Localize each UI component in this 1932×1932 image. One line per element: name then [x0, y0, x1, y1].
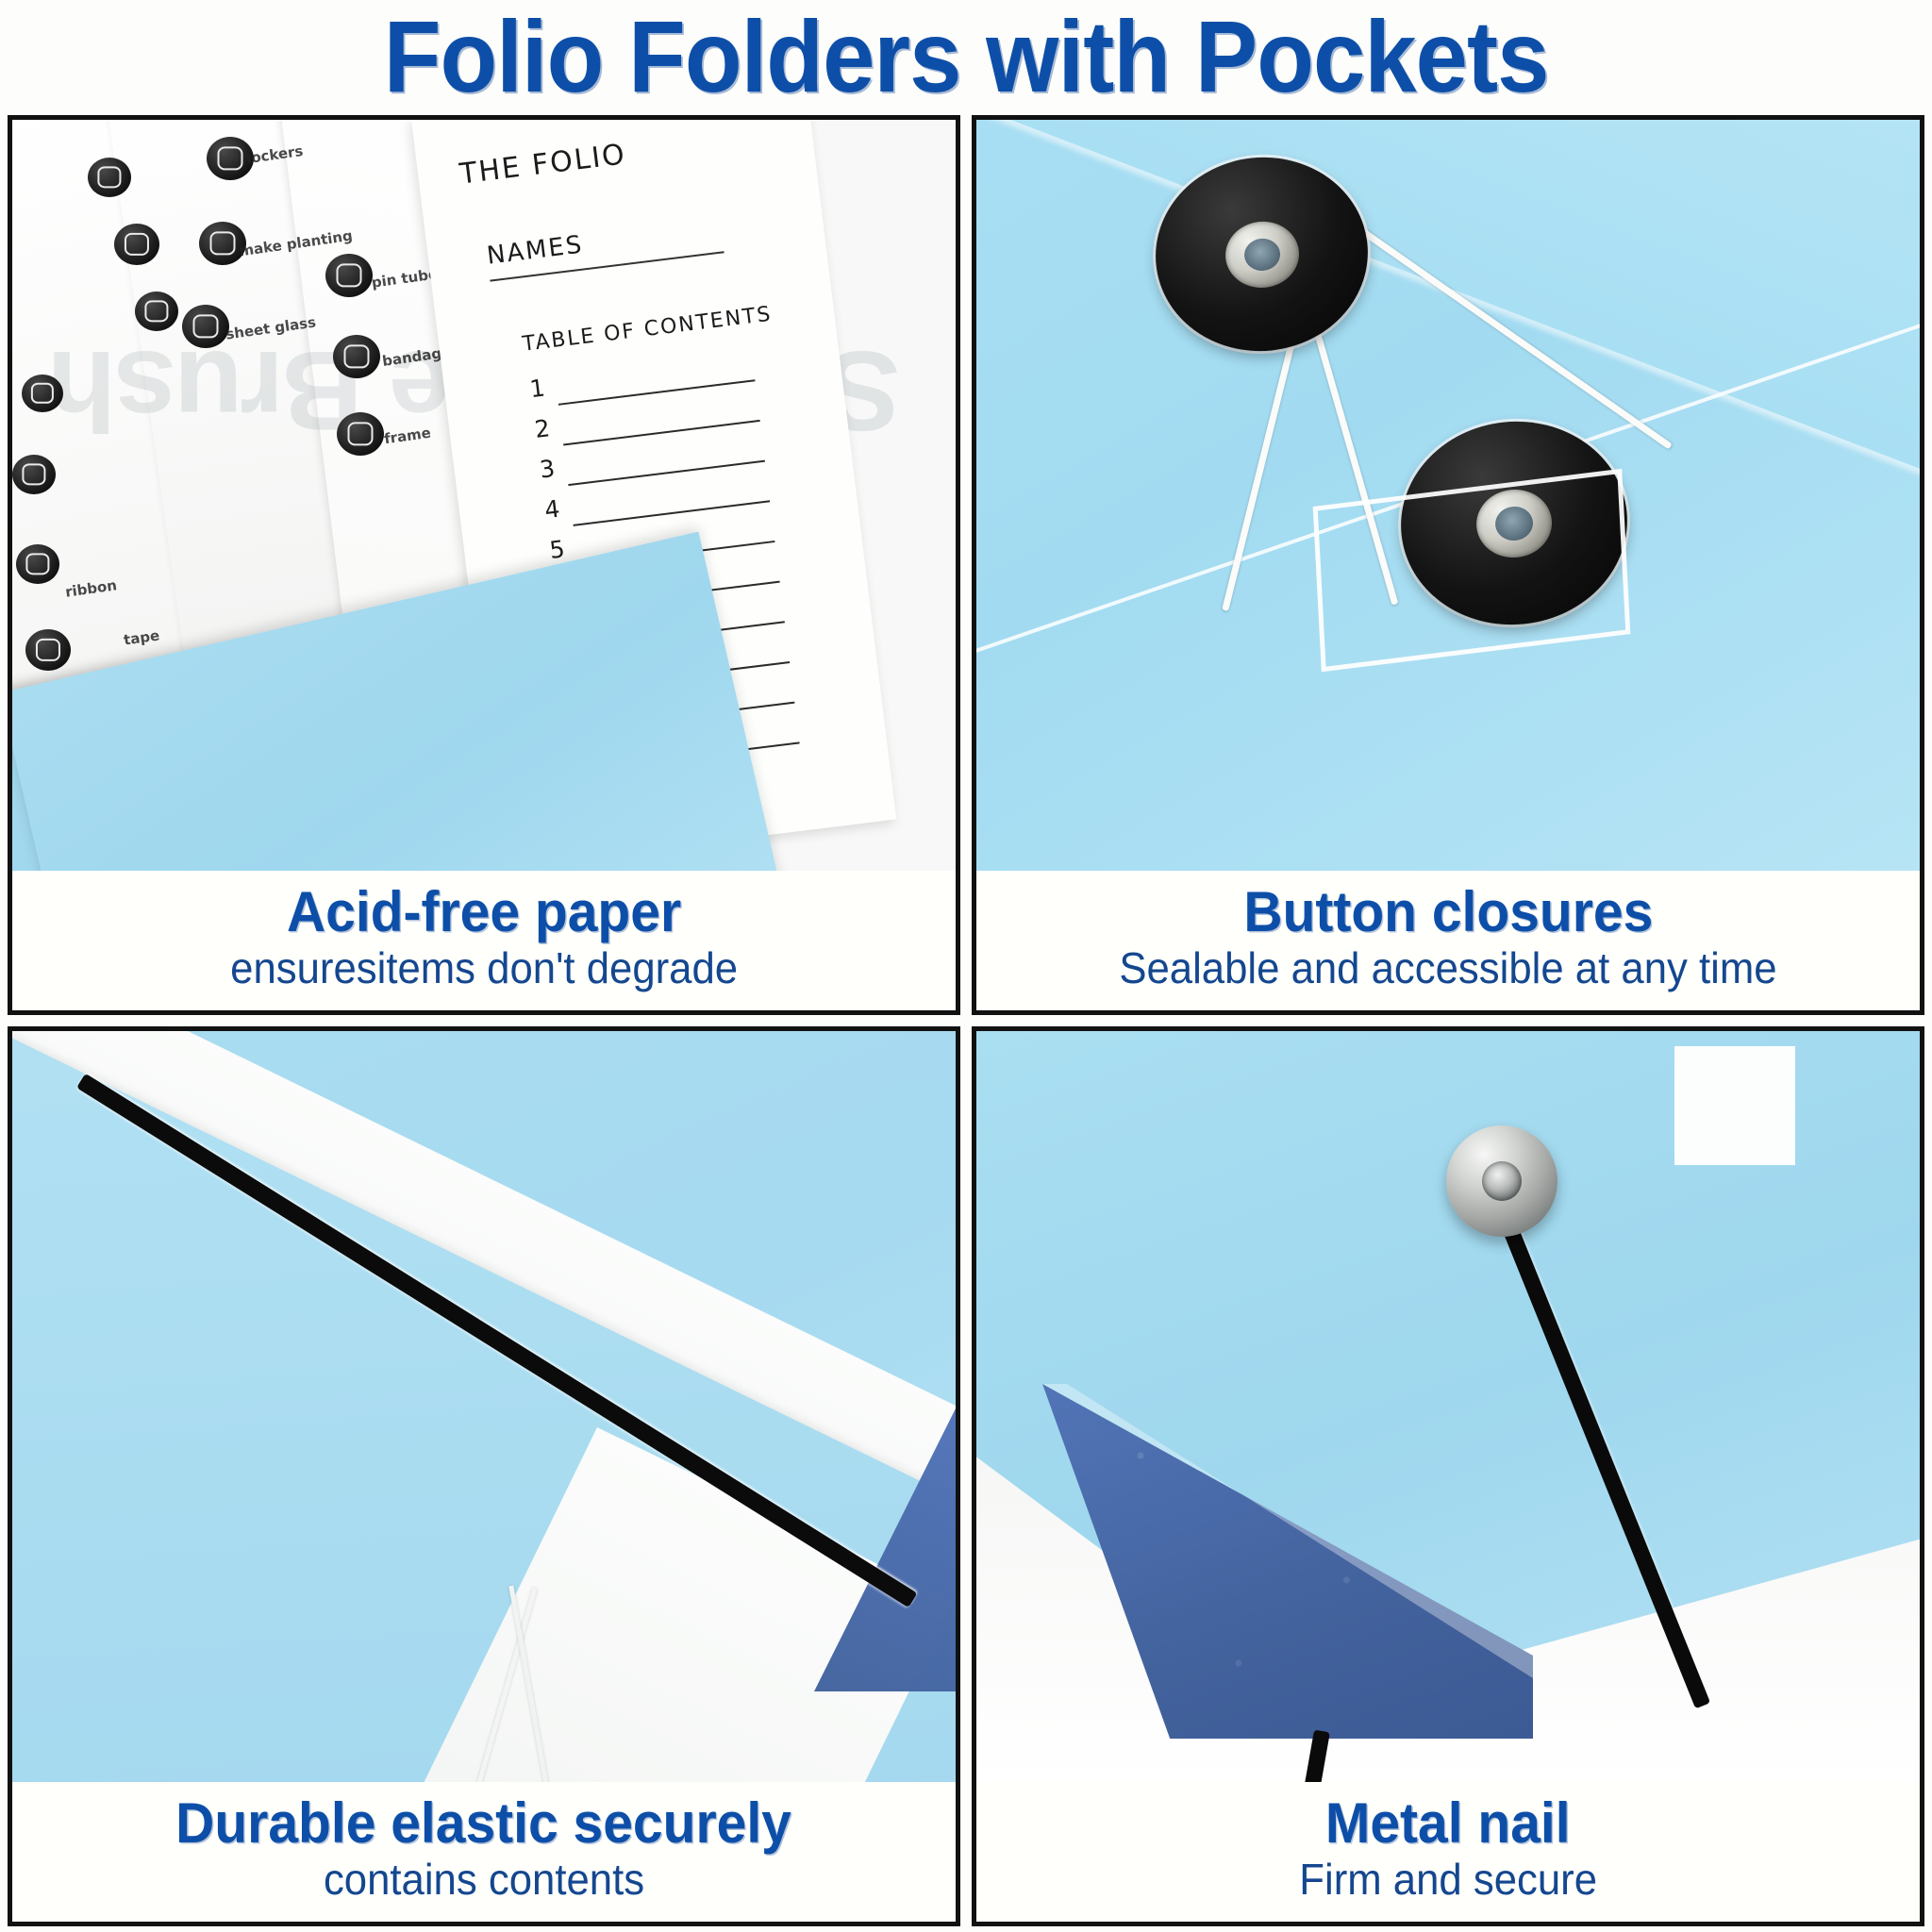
- sticker-circle-icon: [182, 305, 229, 348]
- folio-title-text: THE FOLIO: [458, 138, 627, 191]
- sticker-circle-icon: [25, 629, 71, 671]
- page-title: Folio Folders with Pockets: [384, 6, 1549, 108]
- metal-grommet-icon: [1222, 218, 1302, 291]
- photo-metal-nail: [976, 1031, 1920, 1782]
- panel-acid-free-paper: Stay Alive Brush masking tape ribbon tap…: [8, 115, 960, 1015]
- panel-metal-nail: Metal nail Firm and secure: [972, 1026, 1924, 1926]
- page-title-bar: Folio Folders with Pockets: [0, 0, 1932, 113]
- photo-durable-elastic: [12, 1031, 956, 1782]
- sticker-circle-icon: [333, 335, 380, 378]
- sticker-circle-icon: [337, 412, 384, 456]
- sticker-circle-icon: [114, 224, 159, 265]
- label-window-outline: [1313, 469, 1631, 672]
- caption-heading: Metal nail: [1325, 1794, 1571, 1852]
- sticker-circle-icon: [135, 291, 178, 331]
- metal-snap-button-icon: [1446, 1125, 1557, 1237]
- caption-heading: Button closures: [1243, 883, 1653, 941]
- caption-heading: Acid-free paper: [287, 883, 681, 941]
- elastic-cord: [1222, 308, 1304, 611]
- folio-names-label: NAMES: [485, 230, 585, 270]
- infographic-page: Folio Folders with Pockets Stay Alive Br…: [0, 0, 1932, 1932]
- caption-subtext: ensuresitems don't degrade: [230, 944, 738, 992]
- sticker-circle-icon: [325, 254, 373, 297]
- caption-subtext: Sealable and accessible at any time: [1119, 944, 1776, 992]
- caption-acid-free-paper: Acid-free paper ensuresitems don't degra…: [12, 871, 956, 1010]
- snap-center-icon: [1482, 1161, 1522, 1201]
- panel-button-closures: Button closures Sealable and accessible …: [972, 115, 1924, 1015]
- caption-button-closures: Button closures Sealable and accessible …: [976, 871, 1920, 1010]
- sticker-circle-icon: [88, 158, 131, 197]
- photo-acid-free-paper: Stay Alive Brush masking tape ribbon tap…: [12, 120, 956, 871]
- panel-durable-elastic: Durable elastic securely contains conten…: [8, 1026, 960, 1926]
- sticker-circle-icon: [12, 455, 56, 494]
- feature-panel-grid: Stay Alive Brush masking tape ribbon tap…: [8, 115, 1924, 1926]
- caption-subtext: Firm and secure: [1299, 1856, 1597, 1904]
- photo-button-closures: [976, 120, 1920, 871]
- caption-metal-nail: Metal nail Firm and secure: [976, 1782, 1920, 1922]
- caption-heading: Durable elastic securely: [176, 1794, 792, 1852]
- caption-durable-elastic: Durable elastic securely contains conten…: [12, 1782, 956, 1922]
- caption-subtext: contains contents: [324, 1856, 644, 1904]
- folio-toc-label: TABLE OF CONTENTS: [521, 303, 773, 357]
- sticker-circle-icon: [22, 375, 63, 412]
- sticker-circle-icon: [16, 544, 59, 584]
